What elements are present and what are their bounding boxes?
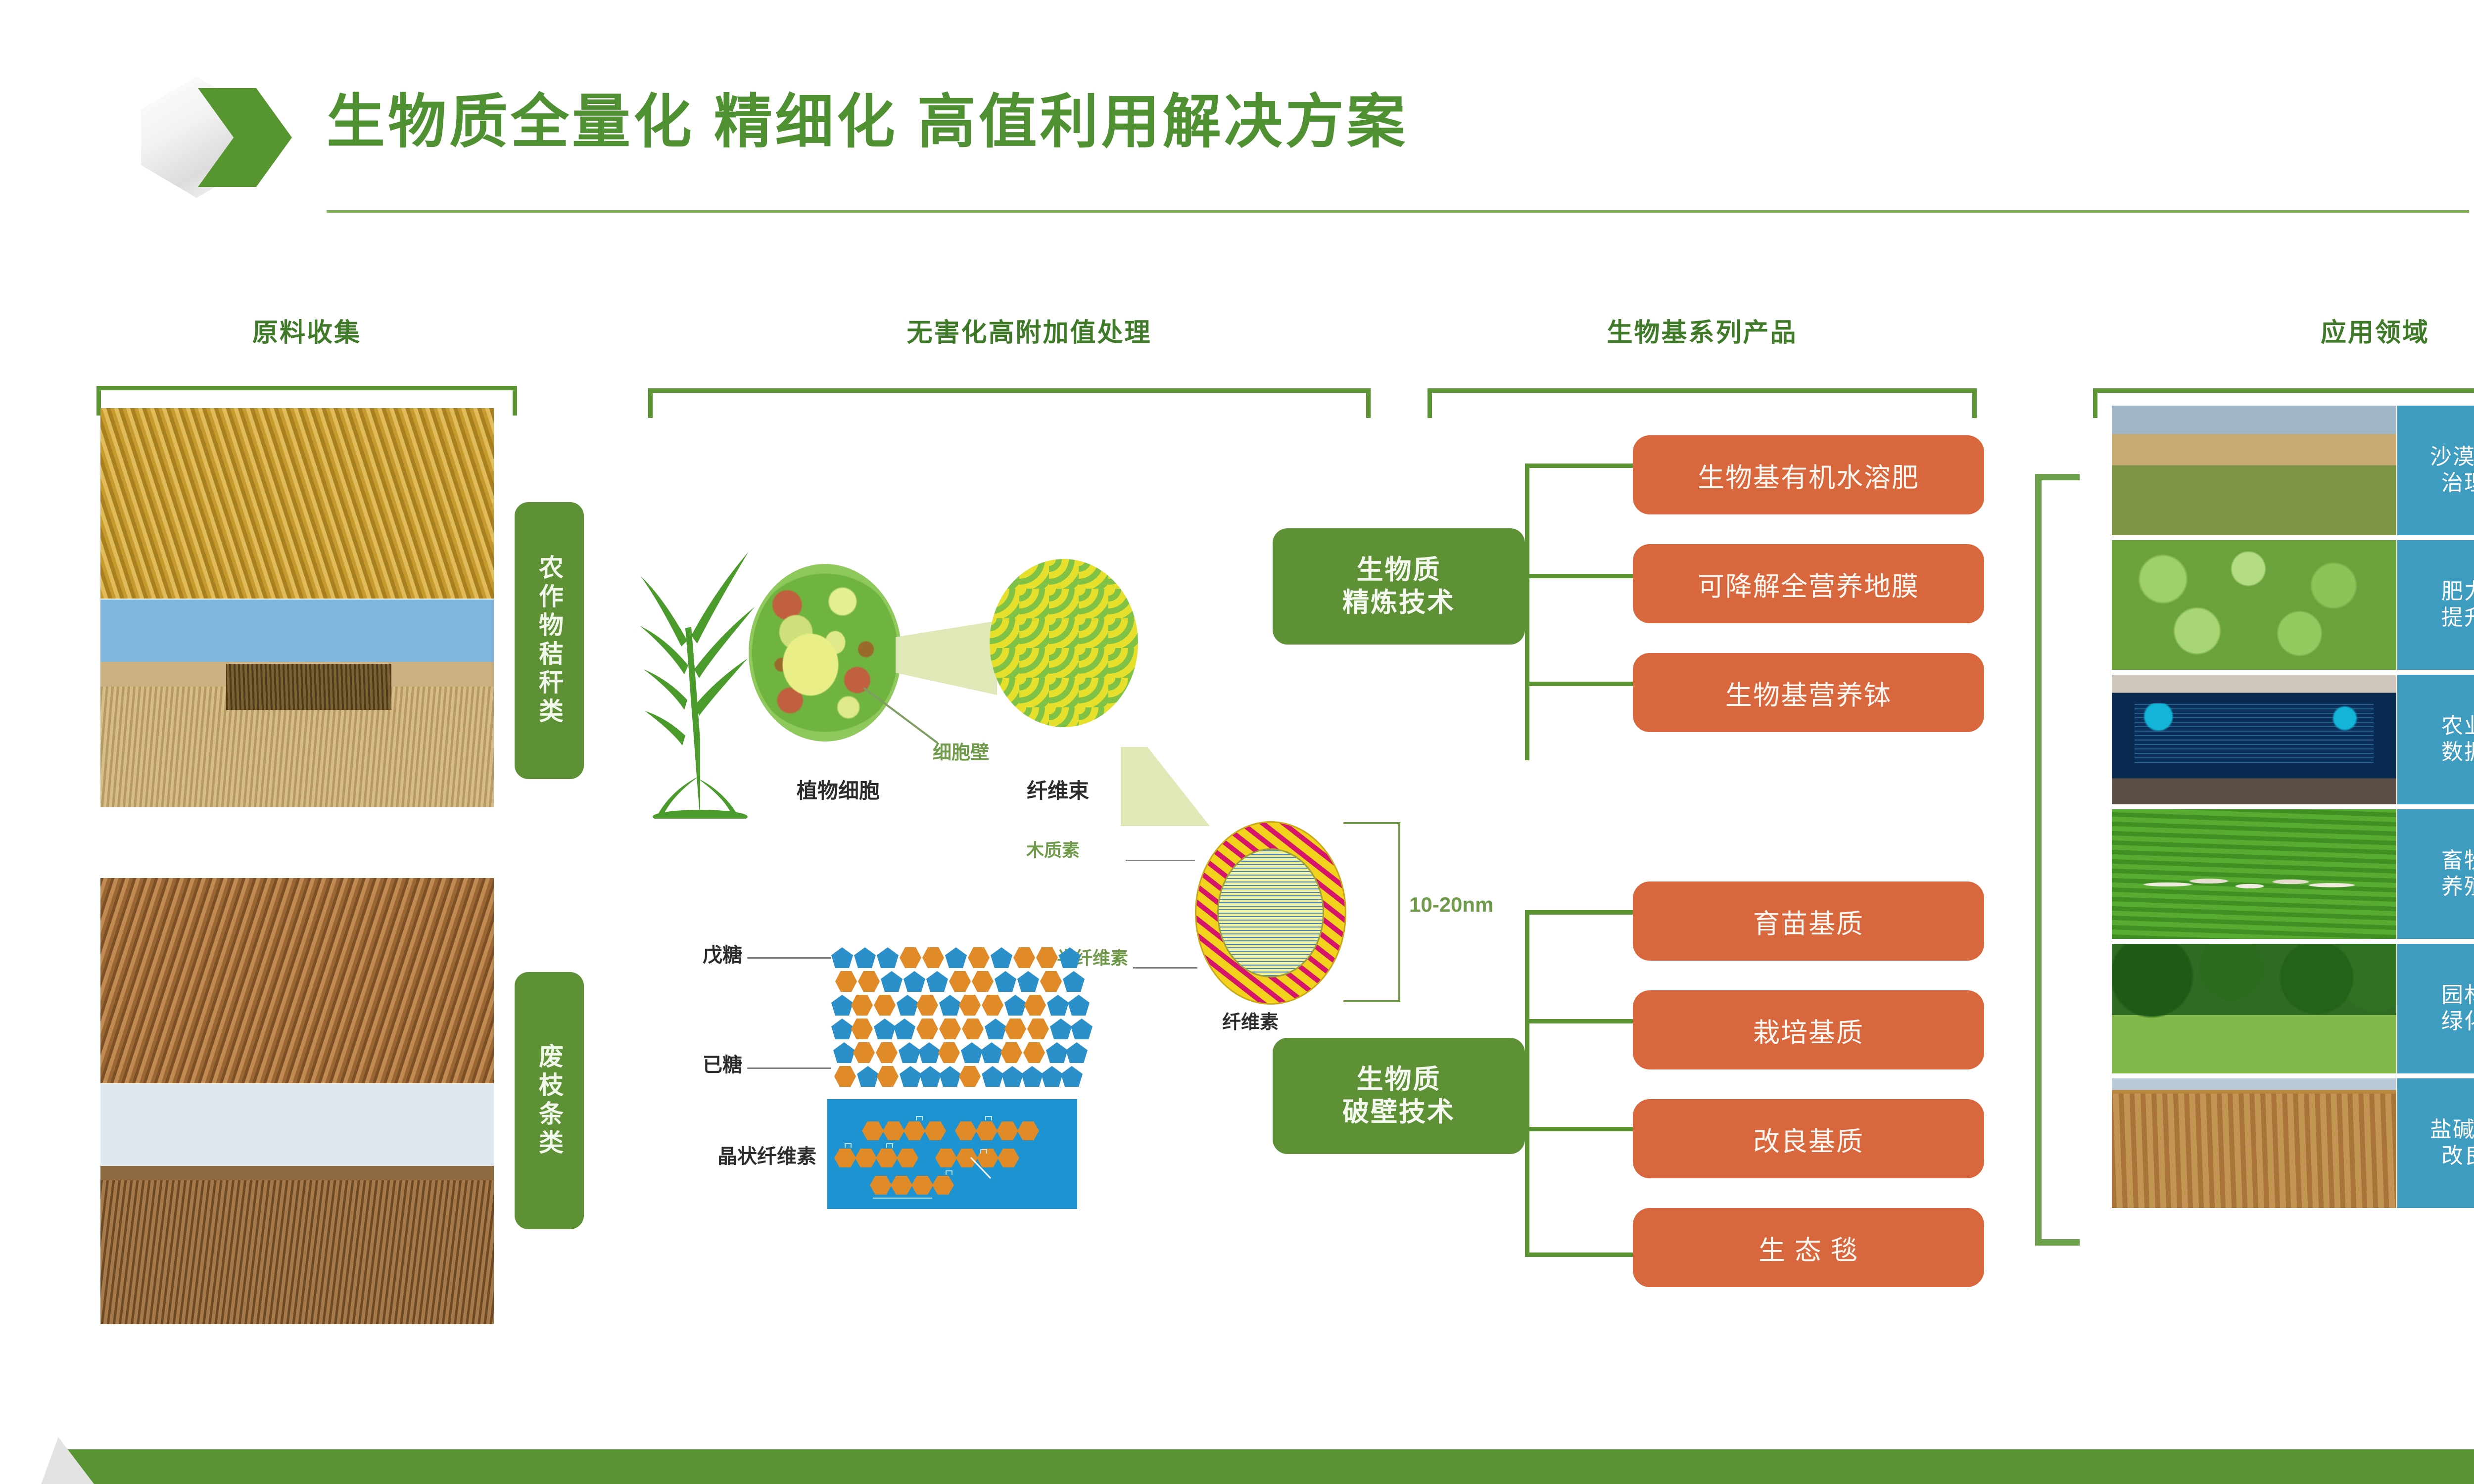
section-title-applications: 应用领域 bbox=[2321, 312, 2429, 349]
app-line2: 治理 bbox=[2441, 471, 2474, 495]
hexose-leader bbox=[747, 1067, 831, 1069]
product-label: 生 态 毯 bbox=[1759, 1228, 1858, 1267]
product-pill-degradable-mulch-film[interactable]: 可降解全营养地膜 bbox=[1633, 544, 1984, 623]
footer-bar bbox=[0, 1449, 2474, 1484]
section-title-feedstock: 原料收集 bbox=[252, 312, 361, 349]
arrow-stem-refining bbox=[1525, 464, 1529, 760]
feedstock-tag-crop-straw[interactable]: 农作物秸秆类 bbox=[515, 502, 584, 779]
arrow-branch-w4 bbox=[1525, 1252, 1639, 1257]
footer-corner-left bbox=[0, 1360, 94, 1484]
product-label: 可降解全营养地膜 bbox=[1698, 564, 1919, 603]
app-line1: 盐碱地 bbox=[2430, 1117, 2474, 1142]
application-tag-landscape-greening[interactable]: 园林 绿化 bbox=[2397, 944, 2474, 1073]
section-title-processing: 无害化高附加值处理 bbox=[906, 312, 1151, 349]
bracket-products-to-applications bbox=[2035, 474, 2080, 1246]
pentose-label: 戊糖 bbox=[703, 939, 742, 968]
application-tag-fertility-improvement[interactable]: 肥力 提升 bbox=[2397, 540, 2474, 670]
app-line2: 养殖 bbox=[2441, 875, 2474, 899]
tech-line2: 破壁技术 bbox=[1342, 1096, 1455, 1129]
fiber-bundle-illustration bbox=[990, 559, 1138, 727]
arrow-branch-w2 bbox=[1525, 1019, 1639, 1023]
photo-park-greening bbox=[2112, 944, 2396, 1073]
photo-sheep-grazing bbox=[2112, 809, 2396, 939]
cellwall-leader-line bbox=[863, 688, 943, 747]
lignin-leader bbox=[1126, 860, 1195, 861]
app-line2: 数据 bbox=[2441, 740, 2474, 764]
dim-tick-bottom bbox=[1343, 1000, 1400, 1002]
app-line1: 畜牧 bbox=[2441, 848, 2474, 873]
app-line2: 绿化 bbox=[2441, 1009, 2474, 1033]
photo-pruned-branches bbox=[100, 878, 494, 1083]
application-tag-livestock-breeding[interactable]: 畜牧 养殖 bbox=[2397, 809, 2474, 939]
cellulose-core bbox=[1217, 848, 1324, 977]
bracket-processing bbox=[648, 388, 1371, 418]
cellulose-label: 纤维素 bbox=[1222, 1007, 1279, 1034]
arrow-branch-w1 bbox=[1525, 910, 1639, 915]
product-label: 生物基营养钵 bbox=[1725, 673, 1892, 712]
app-line1: 农业 bbox=[2441, 714, 2474, 738]
product-pill-ecological-blanket[interactable]: 生 态 毯 bbox=[1633, 1208, 1984, 1287]
lignin-label: 木质素 bbox=[1026, 836, 1080, 862]
crystalline-cellulose-label: 晶状纤维素 bbox=[717, 1140, 816, 1169]
photo-straw-bale-stubble bbox=[100, 600, 494, 807]
product-label: 改良基质 bbox=[1753, 1119, 1864, 1159]
tech-box-wallbreaking[interactable]: 生物质 破壁技术 bbox=[1273, 1038, 1525, 1154]
page-title: 生物质全量化 精细化 高值利用解决方案 bbox=[327, 93, 1408, 151]
tech-line1: 生物质 bbox=[1357, 554, 1441, 587]
arrow-branch-r1 bbox=[1525, 464, 1639, 468]
slide-canvas: 生物质全量化 精细化 高值利用解决方案 原料收集 无害化高附加值处理 生物基系列… bbox=[0, 0, 2474, 1484]
app-line1: 园林 bbox=[2441, 983, 2474, 1007]
fiber-dimension-label: 10-20nm bbox=[1409, 893, 1493, 917]
section-title-products: 生物基系列产品 bbox=[1607, 312, 1797, 349]
photo-orchard-pruning-collection bbox=[100, 1084, 494, 1324]
hemicellulose-leader bbox=[1133, 967, 1197, 969]
tech-line1: 生物质 bbox=[1357, 1064, 1441, 1096]
application-tag-saline-alkali-improvement[interactable]: 盐碱地 改良 bbox=[2397, 1078, 2474, 1208]
dim-bar bbox=[1398, 822, 1400, 1002]
product-label: 生物基有机水溶肥 bbox=[1698, 456, 1919, 495]
app-line1: 肥力 bbox=[2441, 579, 2474, 603]
arrow-branch-r3 bbox=[1525, 682, 1639, 686]
product-label: 育苗基质 bbox=[1753, 902, 1864, 941]
photo-desert-control bbox=[2112, 406, 2396, 535]
feedstock-tag-label: 农作物秸秆类 bbox=[531, 555, 567, 727]
sugar-chain-diagram bbox=[831, 947, 1108, 1091]
tech-line2: 精炼技术 bbox=[1342, 587, 1455, 619]
crystalline-cellulose-panel bbox=[827, 1099, 1077, 1209]
application-tag-desert-control[interactable]: 沙漠化 治理 bbox=[2397, 406, 2474, 535]
arrow-stem-wallbreaking bbox=[1525, 910, 1529, 1256]
feedstock-tag-waste-branch[interactable]: 废枝条类 bbox=[515, 972, 584, 1229]
application-tag-agriculture-data[interactable]: 农业 数据 bbox=[2397, 675, 2474, 804]
app-line2: 改良 bbox=[2441, 1144, 2474, 1168]
plant-cell-label: 植物细胞 bbox=[797, 774, 880, 804]
product-pill-nutrient-pot[interactable]: 生物基营养钵 bbox=[1633, 653, 1984, 732]
bracket-products bbox=[1427, 388, 1977, 418]
product-pill-water-soluble-fertilizer[interactable]: 生物基有机水溶肥 bbox=[1633, 435, 1984, 514]
app-line2: 提升 bbox=[2441, 605, 2474, 630]
product-pill-improvement-substrate[interactable]: 改良基质 bbox=[1633, 1099, 1984, 1178]
hexose-label: 已糖 bbox=[703, 1049, 742, 1077]
photo-agriculture-data-center bbox=[2112, 675, 2396, 804]
grass-plant-icon bbox=[636, 542, 764, 819]
photo-cabbage-field bbox=[2112, 540, 2396, 670]
cellwall-label: 细胞壁 bbox=[933, 737, 989, 764]
feedstock-tag-label: 废枝条类 bbox=[531, 1043, 567, 1158]
photo-corn-straw-field bbox=[100, 408, 494, 599]
fiber-bundle-label: 纤维束 bbox=[1027, 774, 1089, 804]
product-pill-seedling-substrate[interactable]: 育苗基质 bbox=[1633, 881, 1984, 961]
dim-tick-top bbox=[1343, 822, 1400, 824]
product-label: 栽培基质 bbox=[1753, 1011, 1864, 1050]
pentose-leader bbox=[747, 957, 831, 959]
arrow-branch-w3 bbox=[1525, 1127, 1639, 1131]
photo-saline-alkali-land bbox=[2112, 1078, 2396, 1208]
zoom-beam-3 bbox=[1121, 747, 1210, 826]
title-underline bbox=[327, 210, 2469, 213]
zoom-beam-2 bbox=[896, 621, 997, 695]
product-pill-cultivation-substrate[interactable]: 栽培基质 bbox=[1633, 990, 1984, 1069]
arrow-branch-r2 bbox=[1525, 574, 1639, 578]
tech-box-refining[interactable]: 生物质 精炼技术 bbox=[1273, 528, 1525, 645]
app-line1: 沙漠化 bbox=[2430, 445, 2474, 469]
